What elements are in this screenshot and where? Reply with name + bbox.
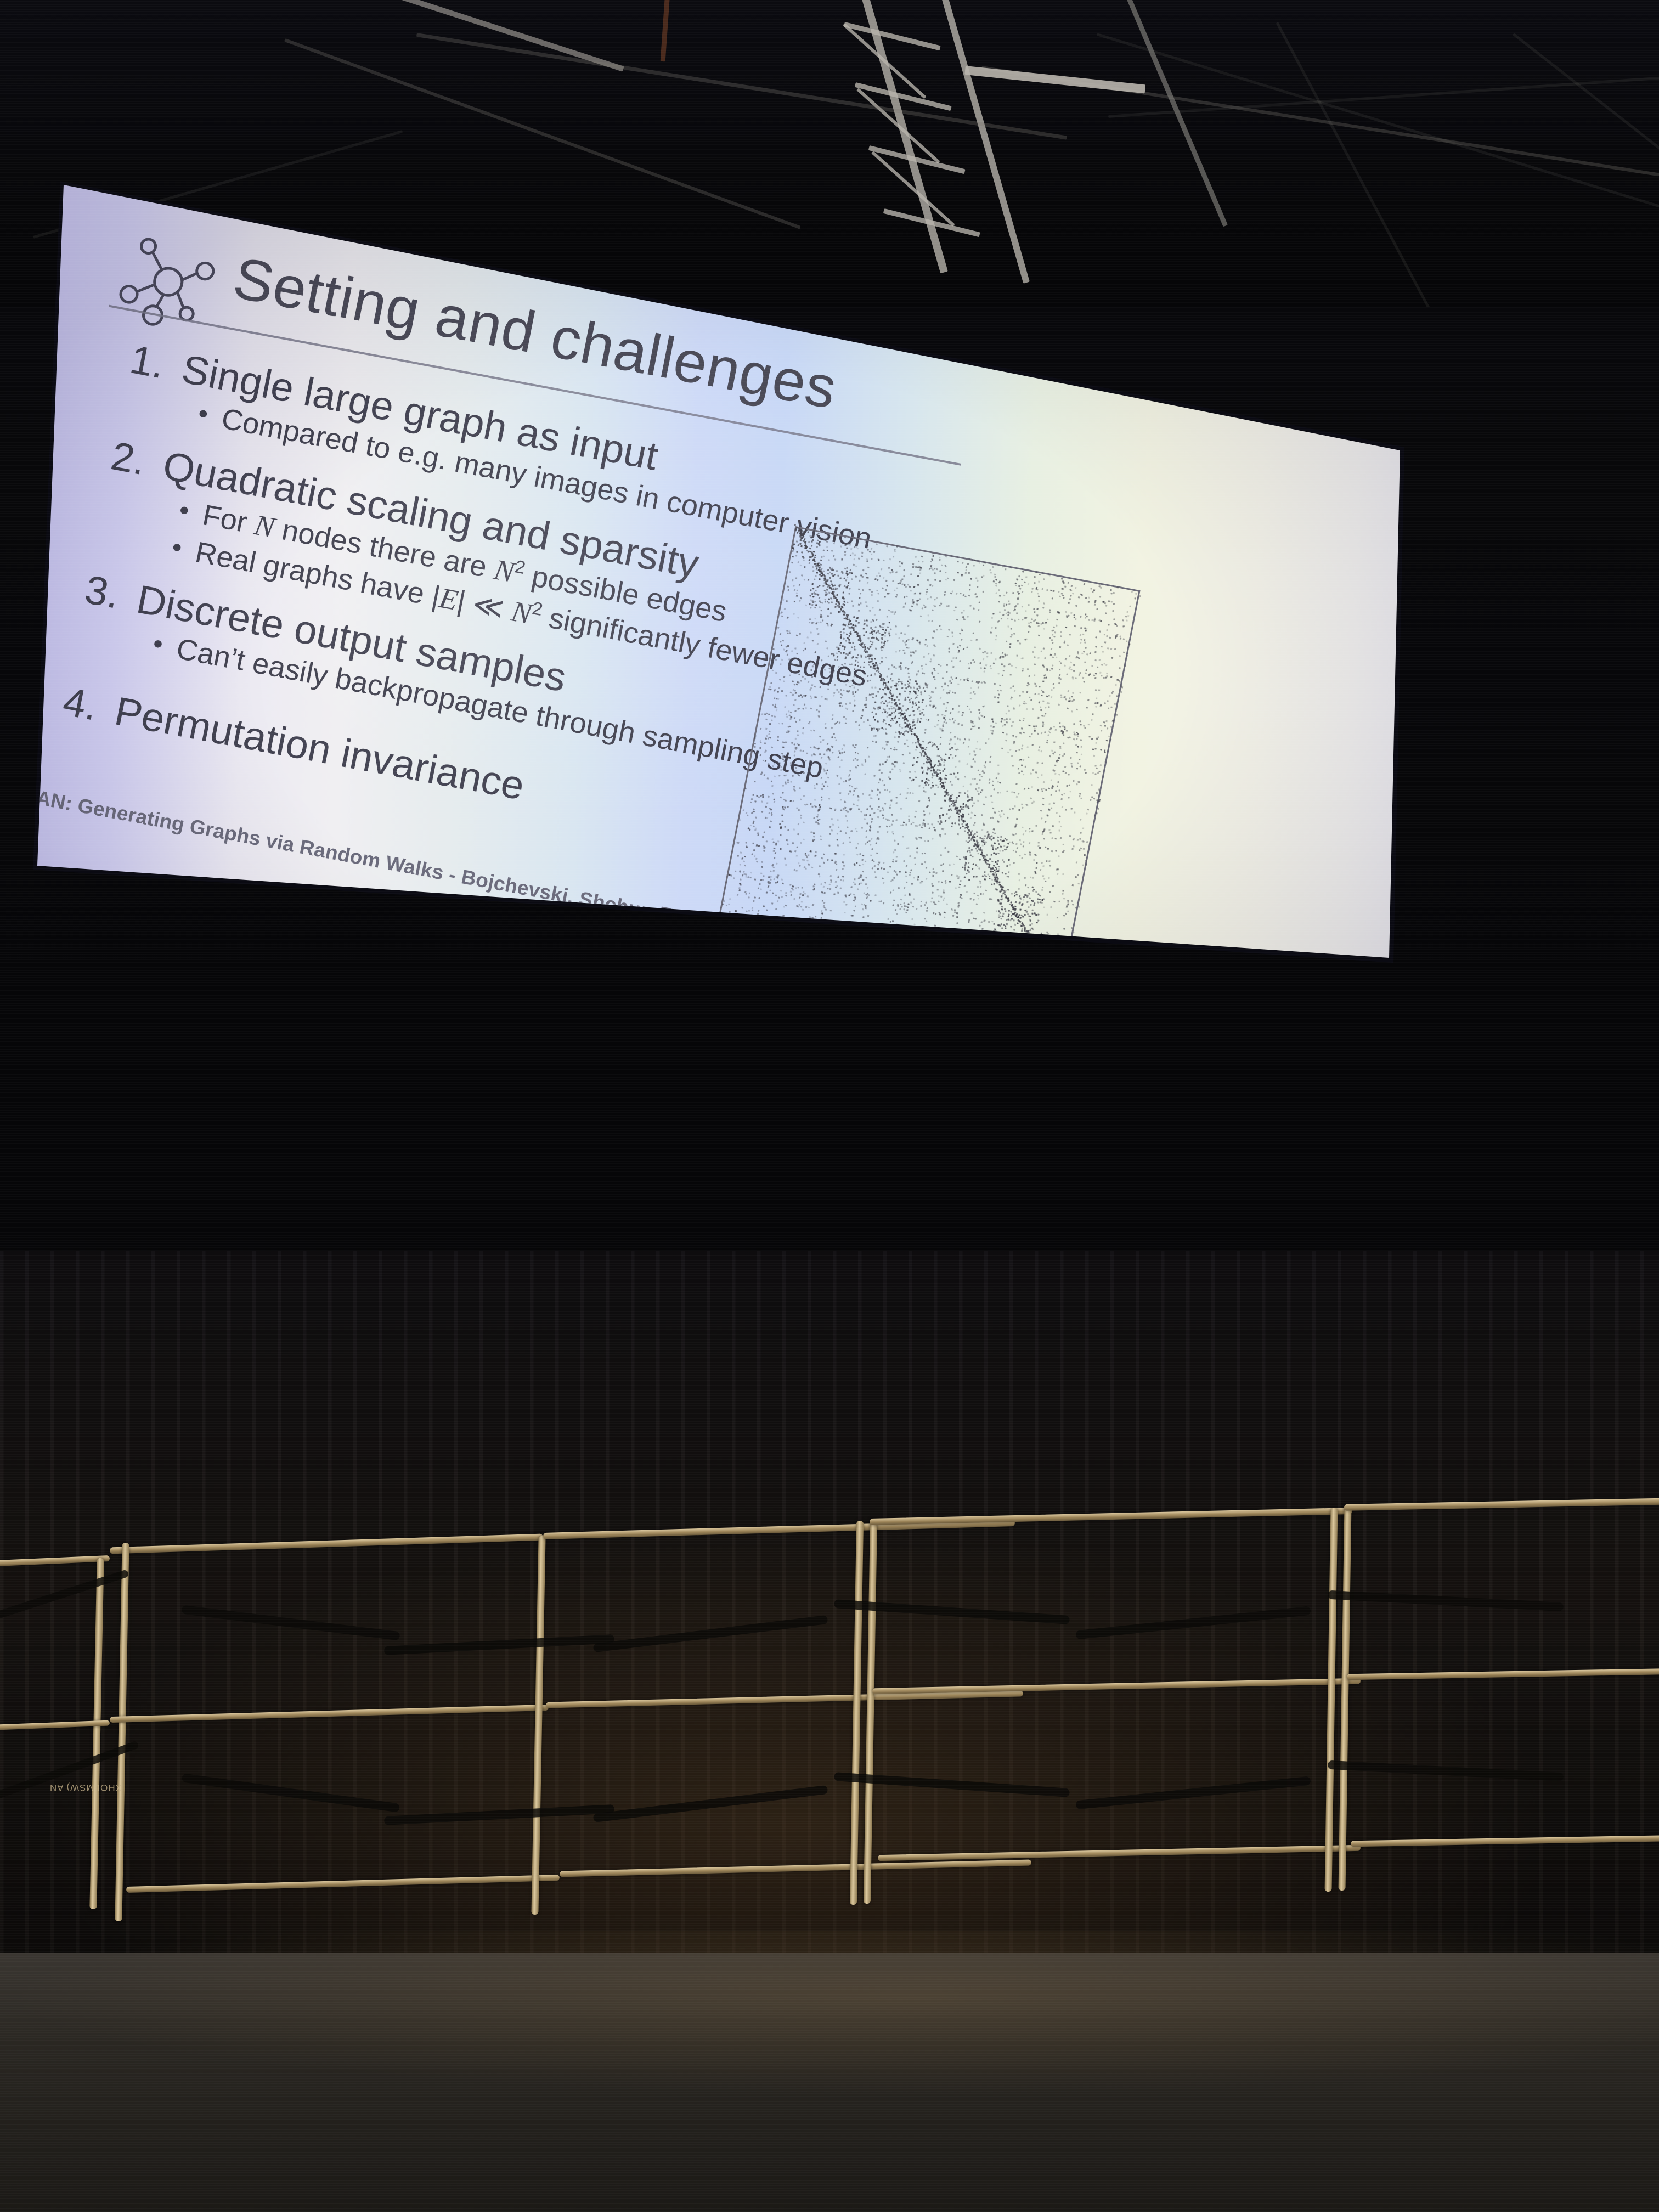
- barrier-post: [850, 1521, 864, 1905]
- barrier-post: [89, 1558, 104, 1909]
- floor-light-glow: [0, 1931, 1659, 2096]
- graph-network-icon: [112, 229, 232, 338]
- barrier-bottom-rail: [126, 1875, 560, 1893]
- barrier-bottom-rail: [878, 1845, 1361, 1861]
- barrier-mid-rail: [546, 1690, 1023, 1708]
- barrier-bottom-rail: [1351, 1835, 1659, 1847]
- auditorium-scene: Setting and challenges 1. Single large g…: [0, 0, 1659, 2212]
- list-item-number: 3.: [81, 567, 142, 621]
- barrier-top-rail: [0, 1555, 110, 1567]
- barrier-mid-rail: [110, 1705, 549, 1723]
- tum-logo: [1149, 1044, 1220, 1088]
- list-item-number: 1.: [126, 337, 187, 391]
- barrier-bottom-rail: [560, 1859, 1031, 1877]
- barrier-post: [115, 1543, 129, 1921]
- barrier-label: XHOLMSW) AN: [49, 1782, 122, 1793]
- screen-content: Setting and challenges 1. Single large g…: [33, 181, 1404, 1163]
- slide-number: 7: [1114, 1047, 1127, 1066]
- list-item-number: 4.: [59, 679, 120, 733]
- barrier-top-rail: [110, 1534, 543, 1554]
- barrier-post: [531, 1536, 545, 1915]
- list-item-number: 2.: [108, 434, 168, 488]
- barrier-mid-rail: [872, 1678, 1361, 1695]
- barrier-post: [1339, 1506, 1352, 1891]
- barrier-mid-rail: [1347, 1668, 1659, 1680]
- projection-screen[interactable]: Setting and challenges 1. Single large g…: [33, 181, 1514, 1256]
- barrier-post: [1325, 1508, 1338, 1892]
- barrier-top-rail: [1344, 1498, 1659, 1511]
- presentation-slide: Setting and challenges 1. Single large g…: [0, 214, 1350, 1101]
- barrier-post: [864, 1520, 877, 1904]
- crowd-barriers: XHOLMSW) AN: [0, 1481, 1659, 1920]
- barrier-top-rail: [870, 1508, 1352, 1525]
